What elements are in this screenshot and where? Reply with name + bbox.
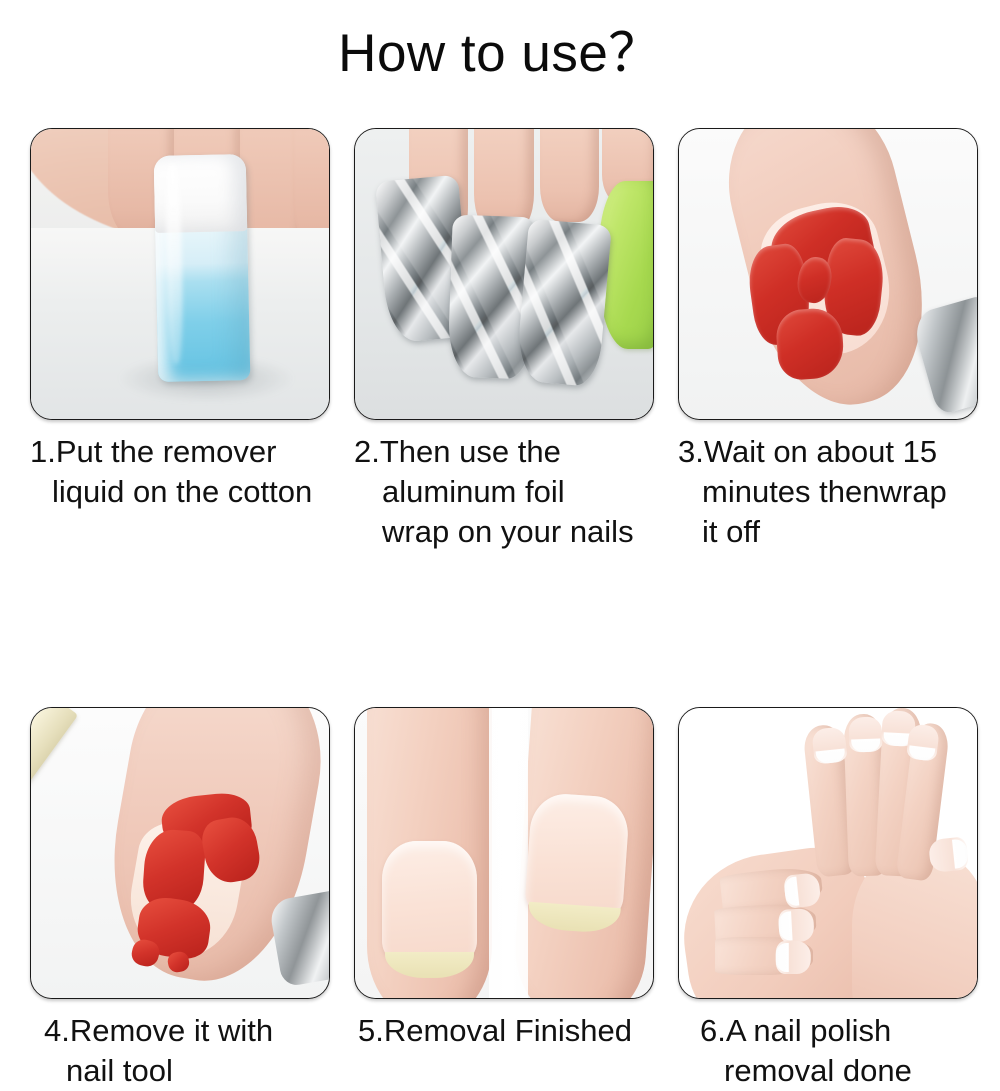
- photo6-nail: [906, 724, 940, 762]
- photo1-remover-bottle: [154, 154, 251, 382]
- step-caption-2: 2.Then use the aluminum foil wrap on you…: [354, 432, 654, 552]
- photo2-finger: [540, 129, 600, 222]
- peeling-red-polish-photo: [679, 129, 977, 419]
- step-photo-1: [30, 128, 330, 420]
- photo6-nail: [778, 908, 814, 943]
- step-caption-1: 1.Put the remover liquid on the cotton: [30, 432, 330, 512]
- hands-french-manicure-photo: [679, 708, 977, 998]
- step-photo-4: [30, 707, 330, 999]
- step-caption-3: 3.Wait on about 15 minutes thenwrap it o…: [678, 432, 978, 552]
- step-caption-4: 4.Remove it with nail tool: [30, 1011, 330, 1091]
- photo6-nail: [776, 941, 811, 974]
- step-card-4: 4.Remove it with nail tool: [30, 707, 330, 1091]
- clean-bare-nails-photo: [355, 708, 653, 998]
- step-photo-6: [678, 707, 978, 999]
- step-caption-5: 5.Removal Finished: [354, 1011, 654, 1051]
- foil-wrapped-nails-photo: [355, 129, 653, 419]
- cuticle-stick-removal-photo: [31, 708, 329, 998]
- page-title: How to use？: [0, 26, 1000, 82]
- steps-grid: 1.Put the remover liquid on the cotton 2…: [30, 128, 978, 1091]
- step-card-6: 6.A nail polish removal done: [678, 707, 978, 1091]
- step-caption-6: 6.A nail polish removal done: [678, 1011, 978, 1091]
- step-card-1: 1.Put the remover liquid on the cotton: [30, 128, 330, 552]
- step-card-2: 2.Then use the aluminum foil wrap on you…: [354, 128, 654, 552]
- remover-bottle-photo: [31, 129, 329, 419]
- step-card-5: 5.Removal Finished: [354, 707, 654, 1091]
- step-photo-3: [678, 128, 978, 420]
- photo6-nail: [928, 836, 969, 873]
- step-photo-5: [354, 707, 654, 999]
- step-card-3: 3.Wait on about 15 minutes thenwrap it o…: [678, 128, 978, 552]
- photo6-nail: [811, 727, 847, 765]
- photo5-finger-gap: [489, 708, 528, 998]
- photo6-nail: [848, 716, 882, 752]
- step-photo-2: [354, 128, 654, 420]
- photo5-nail: [382, 841, 477, 969]
